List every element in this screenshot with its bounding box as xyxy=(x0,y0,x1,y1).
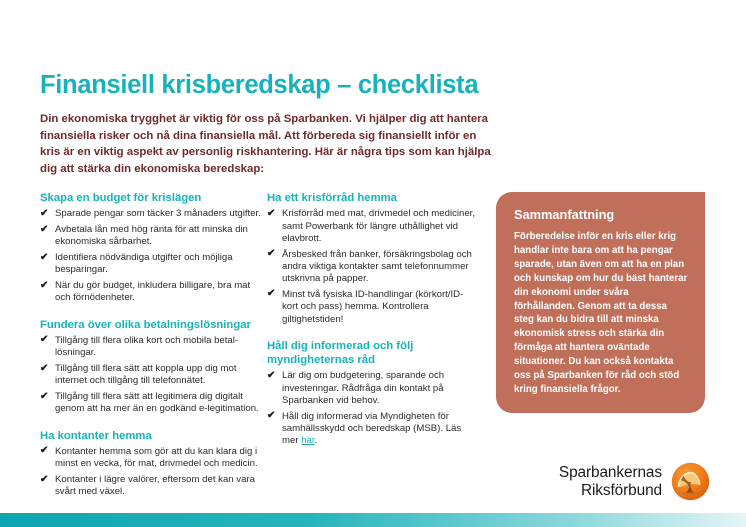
checklist-item-text-tail: . xyxy=(315,435,318,446)
section-heading: Håll dig informerad och följ myndigheter… xyxy=(267,339,479,367)
check-icon: ✔ xyxy=(40,334,48,346)
section-heading: Ha ett krisförråd hemma xyxy=(267,191,479,205)
checklist-item-text: Tillgång till flera sätt att koppla upp … xyxy=(55,363,237,386)
checklist-item: ✔Tillgång till flera sätt att koppla upp… xyxy=(40,363,264,388)
checklist-item: ✔Lär dig om budgetering, sparande och in… xyxy=(267,370,479,407)
checklist-item-text: Tillgång till flera olika kort och mobil… xyxy=(55,335,238,358)
checklist-item-text: Minst två fysiska ID-handlingar (körkort… xyxy=(282,289,463,325)
check-icon: ✔ xyxy=(40,391,48,403)
checklist-column-right: Ha ett krisförråd hemma✔Krisförråd med m… xyxy=(267,191,479,451)
check-icon: ✔ xyxy=(267,410,275,422)
checklist-item-text: Sparade pengar som täcker 3 månaders utg… xyxy=(55,208,261,219)
checklist-item: ✔Tillgång till flera olika kort och mobi… xyxy=(40,335,264,360)
check-icon: ✔ xyxy=(267,288,275,300)
checklist-item-text: Lär dig om budgetering, sparande och inv… xyxy=(282,370,444,406)
check-icon: ✔ xyxy=(267,248,275,260)
checklist: ✔Tillgång till flera olika kort och mobi… xyxy=(40,335,264,416)
intro-paragraph: Din ekonomiska trygghet är viktig för os… xyxy=(40,111,492,177)
checklist: ✔Sparade pengar som täcker 3 månaders ut… xyxy=(40,208,264,305)
checklist-item-text: När du gör budget, inkludera billigare, … xyxy=(55,280,250,303)
inline-link-har[interactable]: här xyxy=(301,435,314,446)
footer-accent-bar xyxy=(0,513,746,527)
check-icon: ✔ xyxy=(40,280,48,292)
checklist-column-left: Skapa en budget för krislägen✔Sparade pe… xyxy=(40,191,264,502)
check-icon: ✔ xyxy=(40,445,48,457)
checklist-item-text: Kontanter hemma som gör att du kan klara… xyxy=(55,446,258,469)
checklist-item: ✔När du gör budget, inkludera billigare,… xyxy=(40,280,264,305)
checklist-item: ✔Tillgång till flera sätt att legitimera… xyxy=(40,391,264,416)
document-page: Finansiell krisberedskap – checklista Di… xyxy=(0,0,746,527)
checklist-item: ✔Kontanter i lägre valörer, eftersom det… xyxy=(40,474,264,499)
logo-wordmark: Sparbankernas Riksförbund xyxy=(559,464,662,500)
summary-body: Förberedelse inför en kris eller krig ha… xyxy=(514,230,688,397)
checklist-item-text: Identifiera nödvändiga utgifter och möjl… xyxy=(55,252,233,275)
section-heading: Skapa en budget för krislägen xyxy=(40,191,264,205)
checklist-item-text: Årsbesked från banker, försäkringsbolag … xyxy=(282,249,472,285)
checklist-section: Fundera över olika betalningslösningar✔T… xyxy=(40,318,264,416)
check-icon: ✔ xyxy=(40,363,48,375)
checklist: ✔Lär dig om budgetering, sparande och in… xyxy=(267,370,479,447)
checklist-section: Håll dig informerad och följ myndigheter… xyxy=(267,339,479,448)
checklist-item: ✔Sparade pengar som täcker 3 månaders ut… xyxy=(40,208,264,220)
checklist-item: ✔Kontanter hemma som gör att du kan klar… xyxy=(40,446,264,471)
summary-title: Sammanfattning xyxy=(514,207,688,222)
logo-line-2: Riksförbund xyxy=(559,482,662,500)
brand-logo: Sparbankernas Riksförbund xyxy=(559,462,710,501)
page-title: Finansiell krisberedskap – checklista xyxy=(40,71,478,100)
check-icon: ✔ xyxy=(40,208,48,220)
checklist-item-text: Avbetala lån med hög ränta för att minsk… xyxy=(55,224,248,247)
checklist-item: ✔Håll dig informerad via Myndigheten för… xyxy=(267,411,479,448)
check-icon: ✔ xyxy=(40,252,48,264)
check-icon: ✔ xyxy=(267,208,275,220)
checklist-item: ✔Minst två fysiska ID-handlingar (körkor… xyxy=(267,289,479,326)
checklist: ✔Krisförråd med mat, drivmedel och medic… xyxy=(267,208,479,326)
section-heading: Fundera över olika betalningslösningar xyxy=(40,318,264,332)
checklist-item-text: Tillgång till flera sätt att legitimera … xyxy=(55,391,259,414)
check-icon: ✔ xyxy=(40,224,48,236)
checklist-item: ✔Avbetala lån med hög ränta för att mins… xyxy=(40,224,264,249)
logo-line-1: Sparbankernas xyxy=(559,464,662,482)
check-icon: ✔ xyxy=(267,370,275,382)
checklist-item-text: Kontanter i lägre valörer, eftersom det … xyxy=(55,474,255,497)
summary-callout: Sammanfattning Förberedelse inför en kri… xyxy=(496,192,705,413)
checklist-item: ✔Årsbesked från banker, försäkringsbolag… xyxy=(267,249,479,286)
checklist: ✔Kontanter hemma som gör att du kan klar… xyxy=(40,446,264,499)
checklist-item-text: Krisförråd med mat, drivmedel och medici… xyxy=(282,208,475,244)
oak-tree-icon xyxy=(671,462,710,501)
checklist-item: ✔Krisförråd med mat, drivmedel och medic… xyxy=(267,208,479,245)
checklist-section: Ha ett krisförråd hemma✔Krisförråd med m… xyxy=(267,191,479,326)
checklist-section: Ha kontanter hemma✔Kontanter hemma som g… xyxy=(40,429,264,499)
checklist-item: ✔Identifiera nödvändiga utgifter och möj… xyxy=(40,252,264,277)
section-heading: Ha kontanter hemma xyxy=(40,429,264,443)
check-icon: ✔ xyxy=(40,474,48,486)
checklist-section: Skapa en budget för krislägen✔Sparade pe… xyxy=(40,191,264,305)
